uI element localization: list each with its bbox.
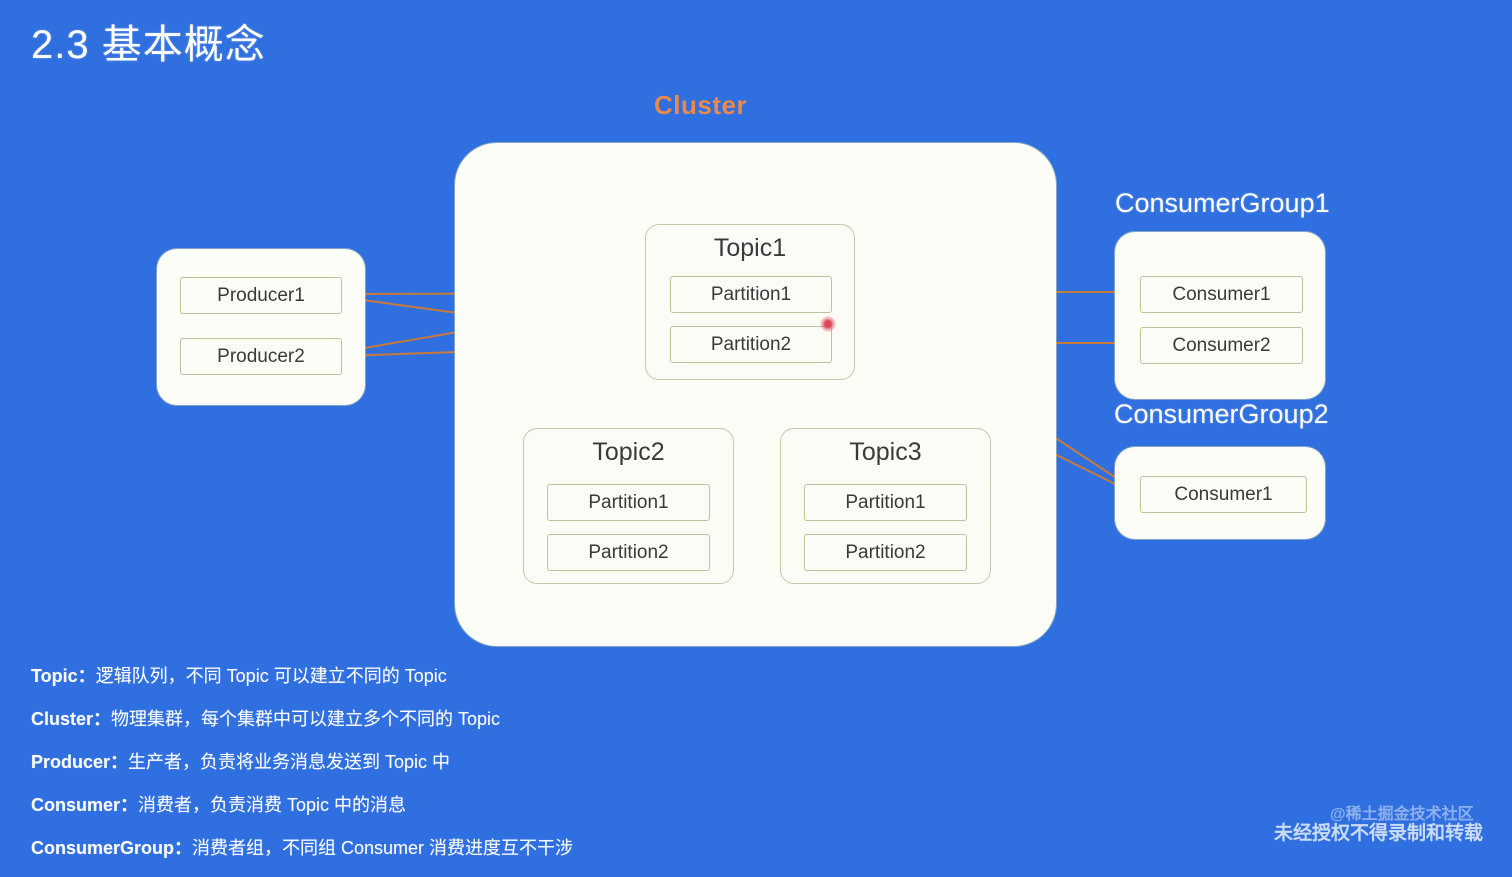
topic3-partition1-box[interactable]: Partition1 [804,484,967,521]
legend-list: Topic：逻辑队列，不同 Topic 可以建立不同的 Topic Cluste… [31,662,751,877]
producer2-box[interactable]: Producer2 [180,338,342,375]
consumer-group2-label: ConsumerGroup2 [1114,399,1329,430]
producer-group-panel [157,249,365,405]
producer1-box[interactable]: Producer1 [180,277,342,314]
topic1-title: Topic1 [646,234,854,263]
topic2-partition2-box[interactable]: Partition2 [547,534,710,571]
legend-term-producer: Producer： [31,752,128,772]
consumer-group1-label: ConsumerGroup1 [1115,188,1330,219]
legend-desc-topic: 逻辑队列，不同 Topic 可以建立不同的 Topic [96,666,447,686]
consumer-group1-panel [1115,232,1325,399]
legend-desc-producer: 生产者，负责将业务消息发送到 Topic 中 [128,752,450,772]
topic2-title: Topic2 [524,438,733,467]
cluster-label: Cluster [654,90,747,121]
consumer-group2-consumer1-box[interactable]: Consumer1 [1140,476,1307,513]
legend-item-producer: Producer：生产者，负责将业务消息发送到 Topic 中 [31,748,751,774]
legend-desc-consumer: 消费者，负责消费 Topic 中的消息 [138,795,406,815]
consumer-group1-consumer2-box[interactable]: Consumer2 [1140,327,1303,364]
legend-item-consumer: Consumer：消费者，负责消费 Topic 中的消息 [31,791,751,817]
topic1-partition2-box[interactable]: Partition2 [670,326,832,363]
legend-item-cluster: Cluster：物理集群，每个集群中可以建立多个不同的 Topic [31,705,751,731]
legend-item-consumergroup: ConsumerGroup：消费者组，不同组 Consumer 消费进度互不干涉 [31,834,751,860]
recording-cursor-dot-icon [820,316,836,332]
consumer-group1-consumer1-box[interactable]: Consumer1 [1140,276,1303,313]
page-title: 2.3 基本概念 [31,12,266,70]
legend-desc-cluster: 物理集群，每个集群中可以建立多个不同的 Topic [111,709,500,729]
topic1-partition1-box[interactable]: Partition1 [670,276,832,313]
topic3-title: Topic3 [781,438,990,467]
legend-term-consumergroup: ConsumerGroup： [31,838,192,858]
watermark-notice: 未经授权不得录制和转载 [1274,818,1483,845]
slide-canvas: 2.3 基本概念 Cluster Producer1 Producer2 T [0,0,1512,853]
legend-term-consumer: Consumer： [31,795,138,815]
legend-desc-consumergroup: 消费者组，不同组 Consumer 消费进度互不干涉 [192,838,573,858]
legend-item-topic: Topic：逻辑队列，不同 Topic 可以建立不同的 Topic [31,662,751,688]
legend-term-topic: Topic： [31,666,96,686]
legend-term-cluster: Cluster： [31,709,111,729]
topic2-partition1-box[interactable]: Partition1 [547,484,710,521]
topic3-partition2-box[interactable]: Partition2 [804,534,967,571]
